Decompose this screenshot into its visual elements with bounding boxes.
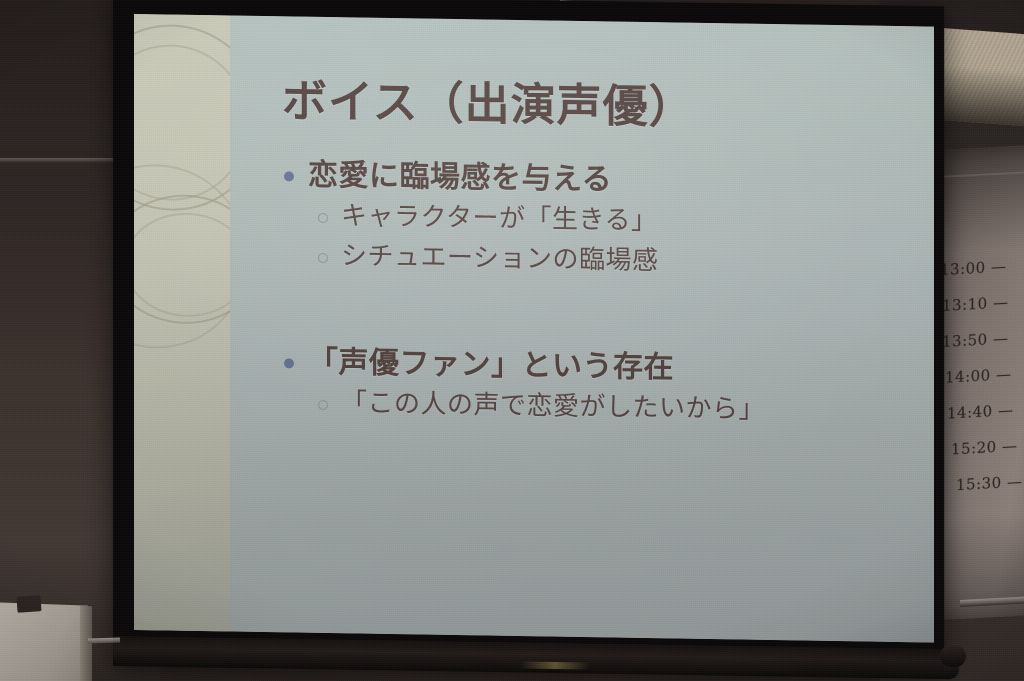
bullet-text: 「この人の声で恋愛がしたいから」	[341, 387, 765, 427]
bullet-item: 「声優ファン」という存在	[284, 343, 924, 390]
schedule-time: 14:40	[947, 402, 993, 423]
hollow-circle-icon	[318, 253, 328, 263]
schedule-dash: —	[993, 329, 1008, 348]
lecture-room-photo: 13:00 — 13:10 — 13:50 — 14:00 — 14:40 — …	[0, 0, 1024, 681]
hollow-circle-icon	[318, 213, 328, 223]
schedule-row: 13:50 —	[940, 319, 1024, 360]
roller-end-cap	[940, 645, 966, 667]
schedule-row: 15:30 —	[940, 463, 1024, 504]
bullet-item: 恋愛に臨場感を与える	[284, 156, 924, 203]
schedule-dash: —	[998, 401, 1013, 420]
bullet-dot-icon	[284, 171, 294, 181]
bullet-text: シチュエーションの臨場感	[341, 240, 658, 279]
bullet-item: 「この人の声で恋愛がしたいから」	[318, 387, 924, 430]
schedule-dash: —	[1002, 437, 1017, 456]
schedule-row: 13:10 —	[940, 283, 1024, 324]
schedule-time: 15:20	[951, 438, 997, 459]
left-wall-ledge	[0, 158, 122, 163]
bullet-text: キャラクターが「生きる」	[341, 200, 657, 239]
hollow-circle-icon	[318, 400, 328, 410]
bullet-item: キャラクターが「生きる」	[318, 200, 924, 243]
foreground-panel	[0, 602, 88, 681]
schedule-row: 14:00 —	[940, 355, 1024, 396]
presentation-slide: ボイス（出演声優） 恋愛に臨場感を与える キャラクターが「生きる」 シチュエーシ…	[134, 14, 934, 643]
slide-decorative-band	[134, 14, 230, 632]
bullet-item: シチュエーションの臨場感	[318, 240, 924, 283]
slide-title: ボイス（出演声優）	[282, 64, 695, 135]
schedule-dash: —	[991, 257, 1006, 276]
schedule-time: 13:10	[942, 294, 988, 315]
slide-body: 恋愛に臨場感を与える キャラクターが「生きる」 シチュエーションの臨場感 「声優…	[284, 156, 924, 436]
schedule-dash: —	[993, 293, 1008, 312]
schedule-time: 14:00	[945, 366, 991, 387]
schedule-time: 15:30	[956, 474, 1002, 495]
schedule-dash: —	[1007, 472, 1022, 491]
bullet-text: 「声優ファン」という存在	[308, 344, 674, 387]
schedule-row: 14:40 —	[940, 391, 1024, 432]
small-dark-object	[16, 595, 41, 613]
bullet-dot-icon	[284, 358, 294, 368]
schedule-row: 13:00 —	[940, 247, 1024, 288]
whiteboard-schedule-list: 13:00 — 13:10 — 13:50 — 14:00 — 14:40 — …	[940, 247, 1024, 507]
bullet-text: 恋愛に臨場感を与える	[308, 157, 612, 199]
schedule-dash: —	[996, 365, 1011, 384]
decorative-circle-icon	[134, 212, 230, 318]
schedule-row: 15:20 —	[940, 427, 1024, 468]
schedule-time: 13:50	[942, 330, 988, 351]
schedule-time: 13:00	[940, 258, 986, 279]
projector-screen-surface: ボイス（出演声優） 恋愛に臨場感を与える キャラクターが「生きる」 シチュエーシ…	[134, 14, 934, 643]
roller-label	[520, 661, 590, 669]
